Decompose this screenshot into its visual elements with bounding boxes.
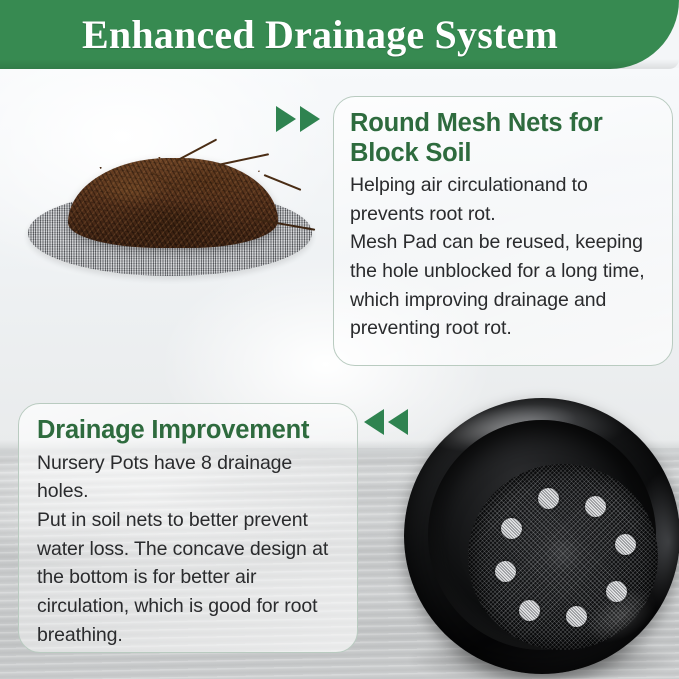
card-heading: Round Mesh Nets for Block Soil: [350, 109, 656, 168]
triangle-right-icon: [300, 106, 320, 132]
drainage-hole: [495, 561, 516, 582]
drainage-hole: [566, 606, 587, 627]
soil-pile: [68, 158, 278, 248]
card-body: Nursery Pots have 8 drainage holes. Put …: [37, 449, 341, 650]
pot-inner-wall: [428, 420, 656, 650]
triangle-right-icon: [276, 106, 296, 132]
header-banner: Enhanced Drainage System: [0, 0, 679, 69]
nursery-pot-bottom-photo: [404, 398, 679, 679]
triangle-left-icon: [388, 409, 408, 435]
pot-mesh-pad: [468, 464, 658, 650]
root-strand: [218, 153, 269, 165]
triangle-left-icon: [364, 409, 384, 435]
product-infographic: Enhanced Drainage System Round Mesh Nets…: [0, 0, 679, 679]
mesh-pad-with-soil-photo: [10, 148, 325, 280]
info-card-round-mesh-nets: Round Mesh Nets for Block Soil Helping a…: [333, 96, 673, 366]
root-strand: [264, 174, 302, 190]
drainage-hole: [606, 581, 627, 602]
drainage-hole: [538, 488, 559, 509]
card-heading: Drainage Improvement: [37, 416, 341, 446]
drainage-hole: [615, 534, 636, 555]
page-title: Enhanced Drainage System: [0, 0, 640, 69]
card-body: Helping air circulationand to prevents r…: [350, 171, 656, 343]
drainage-hole: [585, 496, 606, 517]
root-strand: [152, 172, 178, 190]
info-card-drainage-improvement: Drainage Improvement Nursery Pots have 8…: [18, 403, 358, 653]
marker-arrows-right: [276, 106, 320, 132]
drainage-hole: [501, 518, 522, 539]
drainage-hole: [519, 600, 540, 621]
pot-rim: [404, 398, 679, 674]
pot-center-dimple: [543, 540, 583, 574]
marker-arrows-left: [364, 409, 408, 435]
